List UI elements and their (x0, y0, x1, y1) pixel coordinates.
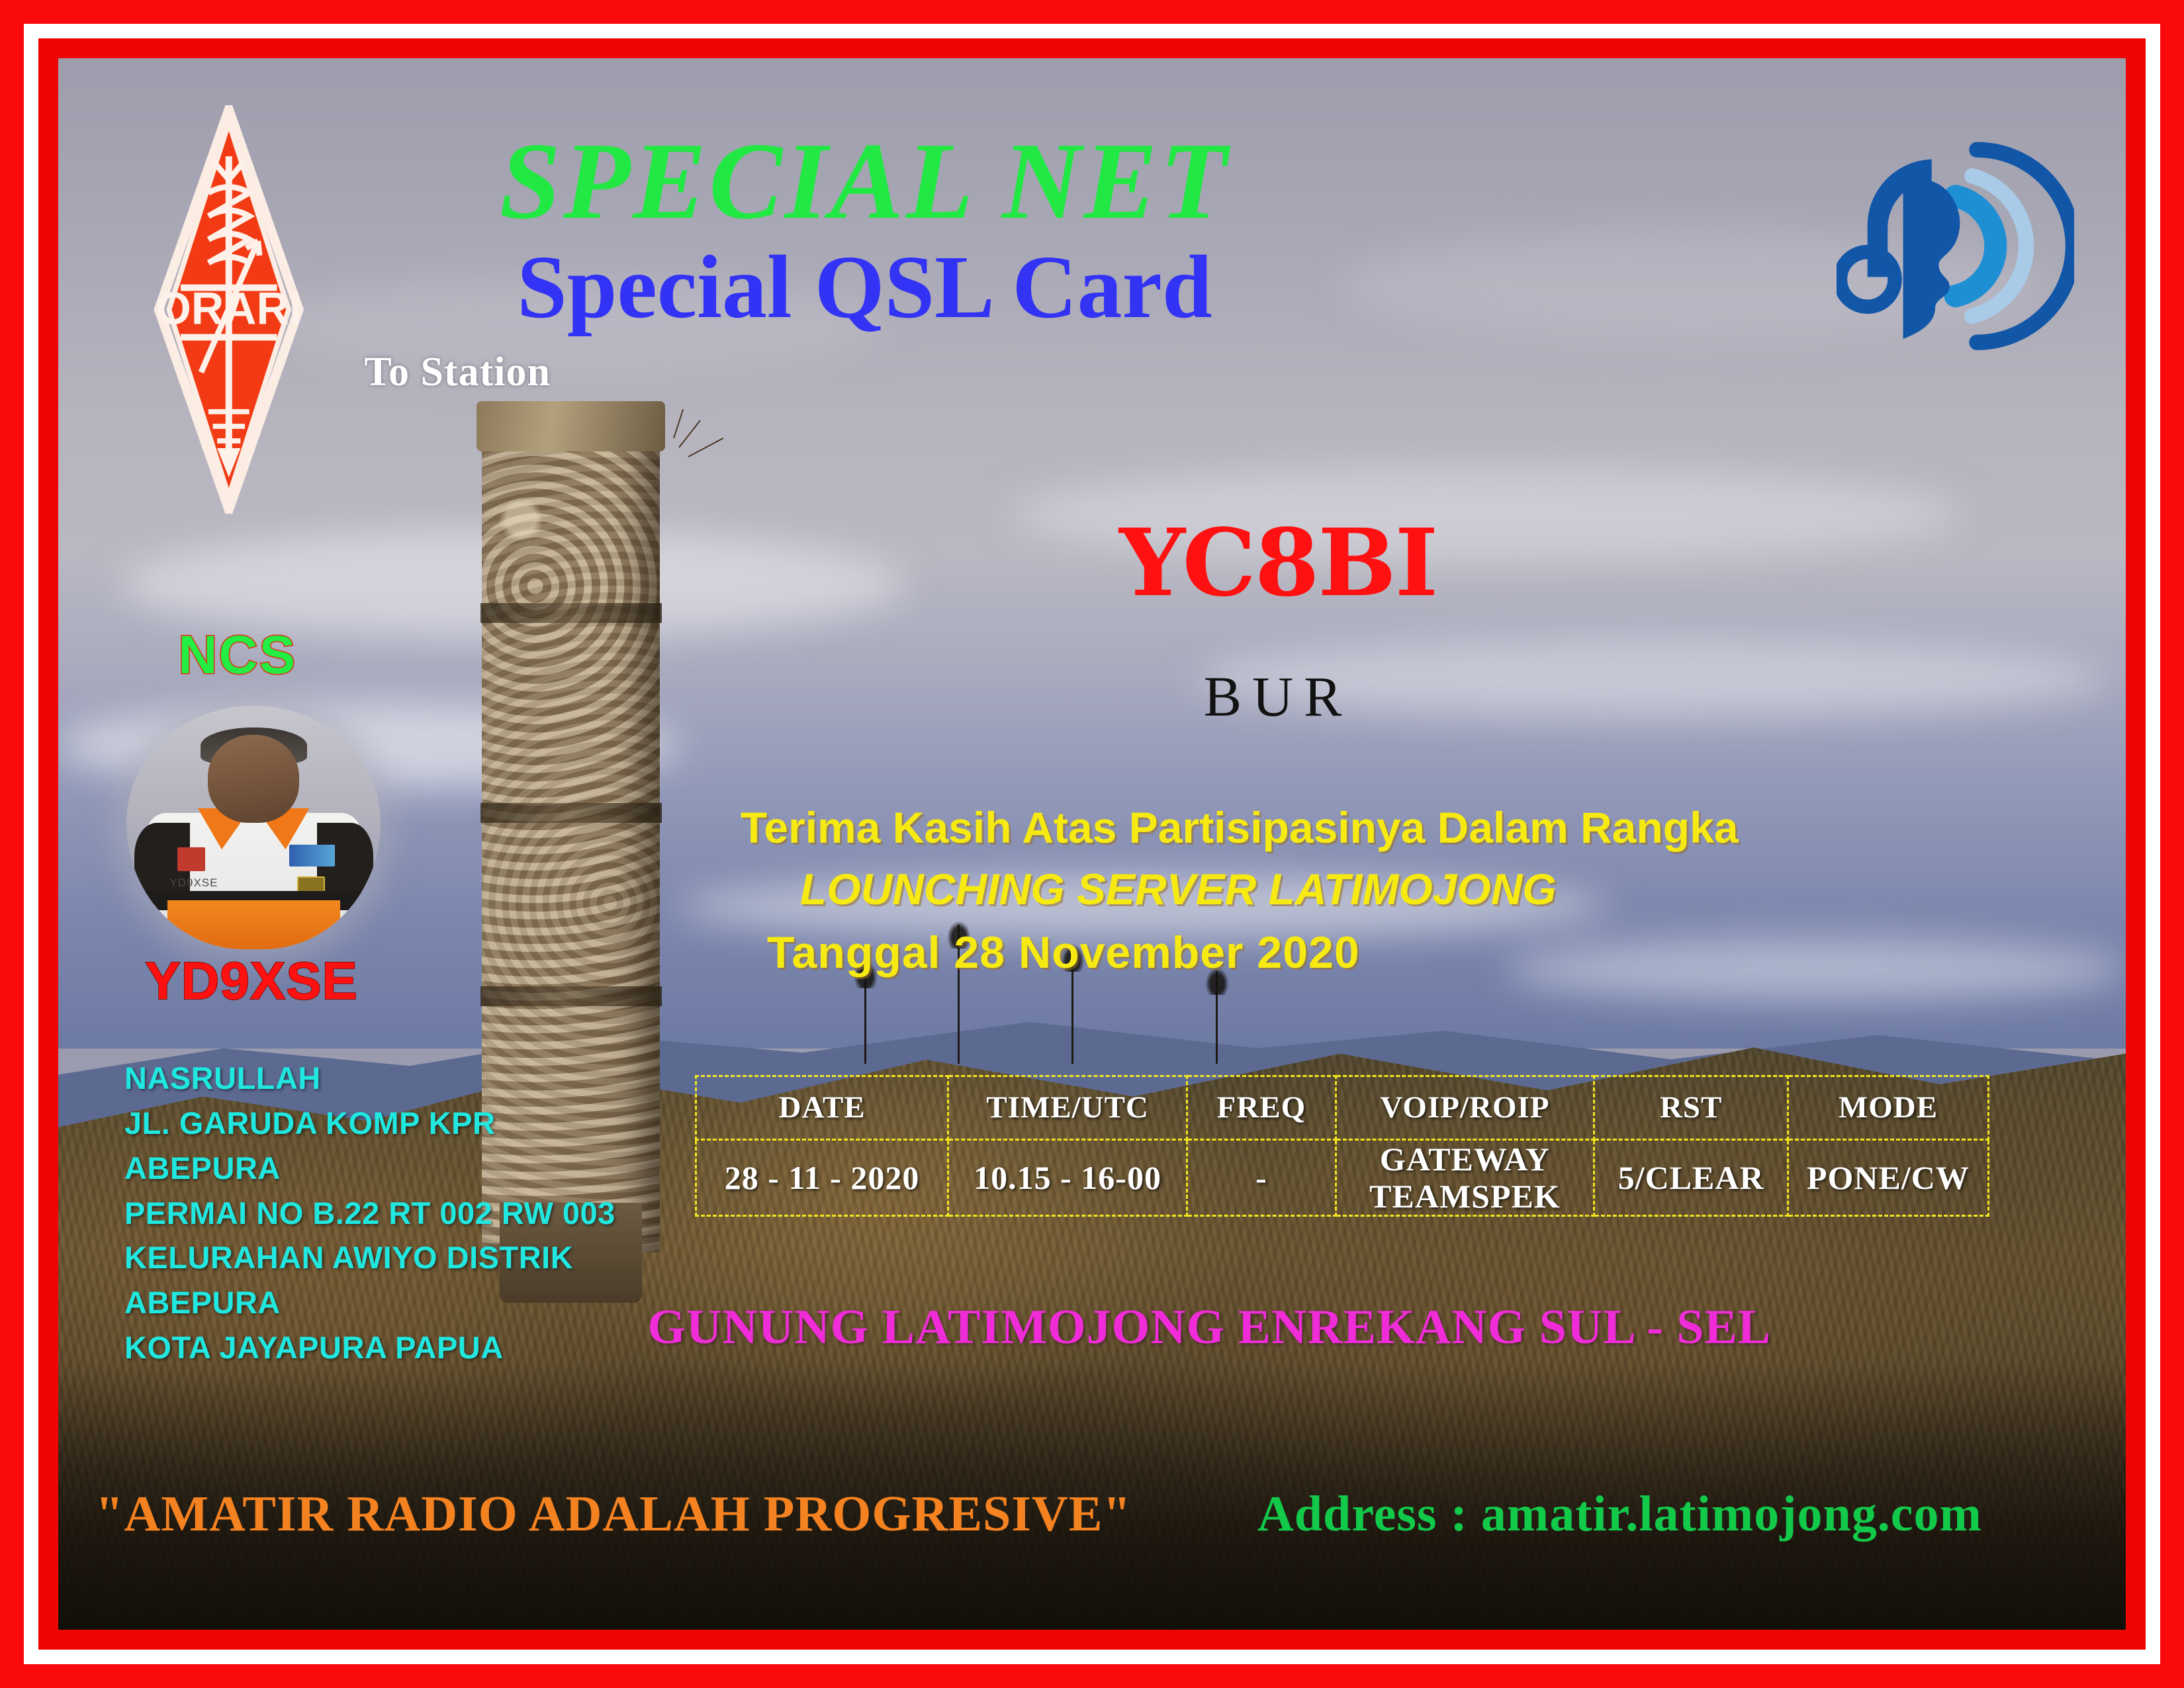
address-line: JL. GARUDA KOMP KPR (124, 1101, 615, 1146)
uniform-badge-right (289, 845, 335, 867)
card-white-gap: ORARI SPECIAL NET Special QSL Card (24, 24, 2160, 1664)
cell-freq: - (1187, 1139, 1336, 1215)
header-rst: RST (1594, 1076, 1788, 1139)
thanks-line-3: Tanggal 28 November 2020 (767, 921, 1981, 985)
cell-mode: PONE/CW (1788, 1139, 1989, 1215)
ncs-callsign: YD9XSE (145, 951, 358, 1011)
mountain-location-caption: GUNUNG LATIMOJONG ENREKANG SUL - SEL (647, 1299, 1771, 1356)
thanks-message: Terima Kasih Atas Partisipasinya Dalam R… (741, 797, 1981, 985)
header-mode: MODE (1788, 1076, 1989, 1139)
thanks-line-2: LOUNCHING SERVER LATIMOJONG (800, 859, 1981, 921)
cell-voip-line-2: TEAMSPEK (1337, 1178, 1594, 1215)
to-station-label: To Station (364, 349, 551, 396)
cairn-band (480, 803, 662, 823)
cell-voip-line-1: GATEWAY (1337, 1141, 1594, 1178)
uniform-badge-left (177, 847, 205, 872)
cell-voip: GATEWAY TEAMSPEK (1336, 1139, 1594, 1215)
voip-headset-logo (1837, 109, 2074, 383)
cell-rst: 5/CLEAR (1594, 1139, 1788, 1215)
page-title: SPECIAL NET (265, 126, 1464, 236)
uniform-callsign-embroidery: YD9XSE (169, 876, 218, 890)
ncs-label: NCS (178, 624, 296, 686)
station-callsign: YC8BI (1051, 517, 1506, 610)
qso-log-table: DATE TIME/UTC FREQ VOIP/ROIP RST MODE 28… (695, 1075, 1989, 1217)
footer-address-url: Address : amatir.latimojong.com (1257, 1485, 1982, 1543)
report-code: BUR (1051, 668, 1506, 725)
footer-slogan: "AMATIR RADIO ADALAH PROGRESIVE" (95, 1485, 1131, 1543)
address-line: NASRULLAH (124, 1056, 615, 1101)
cairn-cap (477, 401, 665, 451)
cairn-band (480, 603, 662, 623)
table-header-row: DATE TIME/UTC FREQ VOIP/ROIP RST MODE (696, 1076, 1989, 1139)
uniform-sash (167, 900, 340, 949)
operator-face (208, 735, 299, 822)
header-voip-roip: VOIP/ROIP (1336, 1076, 1594, 1139)
cairn-band (480, 986, 662, 1006)
address-line: ABEPURA (124, 1280, 615, 1325)
table-row: 28 - 11 - 2020 10.15 - 16-00 - GATEWAY T… (696, 1139, 1989, 1215)
card-photo-background: ORARI SPECIAL NET Special QSL Card (58, 58, 2126, 1630)
address-line: KELURAHAN AWIYO DISTRIK (124, 1235, 615, 1280)
card-inner-border: ORARI SPECIAL NET Special QSL Card (38, 38, 2146, 1650)
silhouette-tree (1216, 971, 1218, 1064)
thanks-line-1: Terima Kasih Atas Partisipasinya Dalam R… (741, 797, 1981, 859)
station-address: NASRULLAH JL. GARUDA KOMP KPR ABEPURA PE… (124, 1056, 615, 1370)
header-time-utc: TIME/UTC (948, 1076, 1187, 1139)
page-subtitle: Special QSL Card (265, 242, 1464, 332)
address-line: PERMAI NO B.22 RT 002 RW 003 (124, 1191, 615, 1236)
cell-date: 28 - 11 - 2020 (696, 1139, 948, 1215)
header-date: DATE (696, 1076, 948, 1139)
qsl-card: ORARI SPECIAL NET Special QSL Card (0, 0, 2184, 1688)
ncs-operator-photo: YD9XSE (126, 706, 381, 949)
address-line: KOTA JAYAPURA PAPUA (124, 1325, 615, 1370)
cell-time: 10.15 - 16-00 (948, 1139, 1187, 1215)
address-line: ABEPURA (124, 1146, 615, 1191)
header-freq: FREQ (1187, 1076, 1336, 1139)
